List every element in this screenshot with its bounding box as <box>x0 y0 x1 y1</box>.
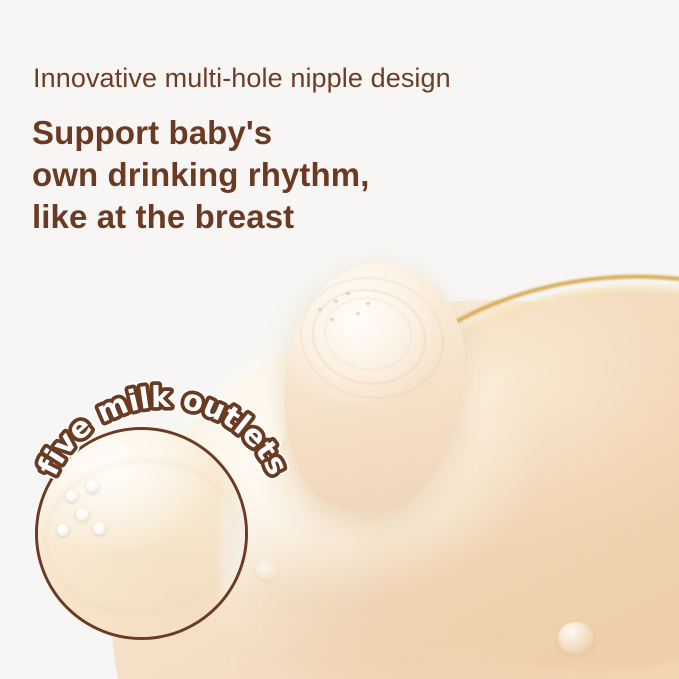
anti-collapse-bump <box>268 430 286 446</box>
milk-outlet-dot <box>93 522 106 535</box>
milk-outlet-dot <box>66 490 78 502</box>
anti-collapse-bump <box>558 622 594 654</box>
teat-hole-mark <box>366 302 370 305</box>
milk-outlet-dot <box>86 480 99 493</box>
magnifier-callout: five milk outlets five milk outlets five… <box>35 427 248 640</box>
anti-collapse-bump <box>256 560 278 580</box>
product-feature-image: Innovative multi-hole nipple design Supp… <box>0 0 679 679</box>
magnifier-lens <box>35 427 248 640</box>
eyebrow-text: Innovative multi-hole nipple design <box>33 61 451 95</box>
milk-outlet-dot <box>57 524 69 536</box>
teat-hole-mark <box>346 292 350 295</box>
headline-line-1: Support baby's <box>32 112 370 154</box>
lens-background-strip <box>220 427 248 640</box>
teat-hole-mark <box>318 308 322 311</box>
headline-line-2: own drinking rhythm, <box>32 154 370 196</box>
headline-line-3: like at the breast <box>32 196 370 238</box>
milk-outlet-dot <box>76 508 89 521</box>
teat-hole-mark <box>334 300 338 303</box>
teat-hole-mark <box>330 318 334 321</box>
teat-hole-mark <box>356 312 360 315</box>
page-title: Support baby's own drinking rhythm, like… <box>32 112 370 238</box>
